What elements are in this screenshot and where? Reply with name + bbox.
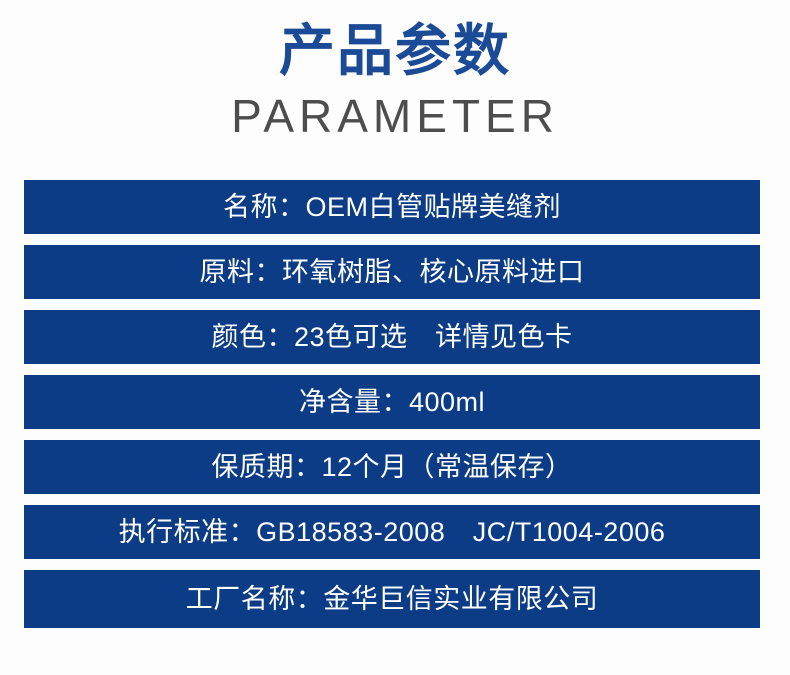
page-subtitle: PARAMETER xyxy=(0,88,790,144)
page-title: 产品参数 xyxy=(0,14,790,90)
parameter-page: 产品参数 PARAMETER 名称：OEM白管贴牌美缝剂 原料：环氧树脂、核心原… xyxy=(0,0,790,675)
parameter-row-text: 净含量：400ml xyxy=(299,387,485,417)
parameter-row-text: 保质期：12个月（常温保存） xyxy=(211,452,572,482)
parameter-row-text: 执行标准：GB18583-2008 JC/T1004-2006 xyxy=(119,517,666,547)
parameter-row-net-content: 净含量：400ml xyxy=(24,375,760,429)
parameter-row-material: 原料：环氧树脂、核心原料进口 xyxy=(24,245,760,299)
page-header: 产品参数 PARAMETER xyxy=(0,0,790,170)
parameter-row-color: 颜色：23色可选 详情见色卡 xyxy=(24,310,760,364)
parameter-row-text: 名称：OEM白管贴牌美缝剂 xyxy=(223,192,561,222)
parameter-list: 名称：OEM白管贴牌美缝剂 原料：环氧树脂、核心原料进口 颜色：23色可选 详情… xyxy=(24,180,760,628)
parameter-row-factory-name: 工厂名称：金华巨信实业有限公司 xyxy=(24,570,760,628)
parameter-row-text: 工厂名称：金华巨信实业有限公司 xyxy=(186,584,599,614)
parameter-row-standard: 执行标准：GB18583-2008 JC/T1004-2006 xyxy=(24,505,760,559)
parameter-row-text: 原料：环氧树脂、核心原料进口 xyxy=(200,257,585,287)
parameter-row-shelf-life: 保质期：12个月（常温保存） xyxy=(24,440,760,494)
parameter-row-text: 颜色：23色可选 详情见色卡 xyxy=(211,322,572,352)
parameter-row-name: 名称：OEM白管贴牌美缝剂 xyxy=(24,180,760,234)
